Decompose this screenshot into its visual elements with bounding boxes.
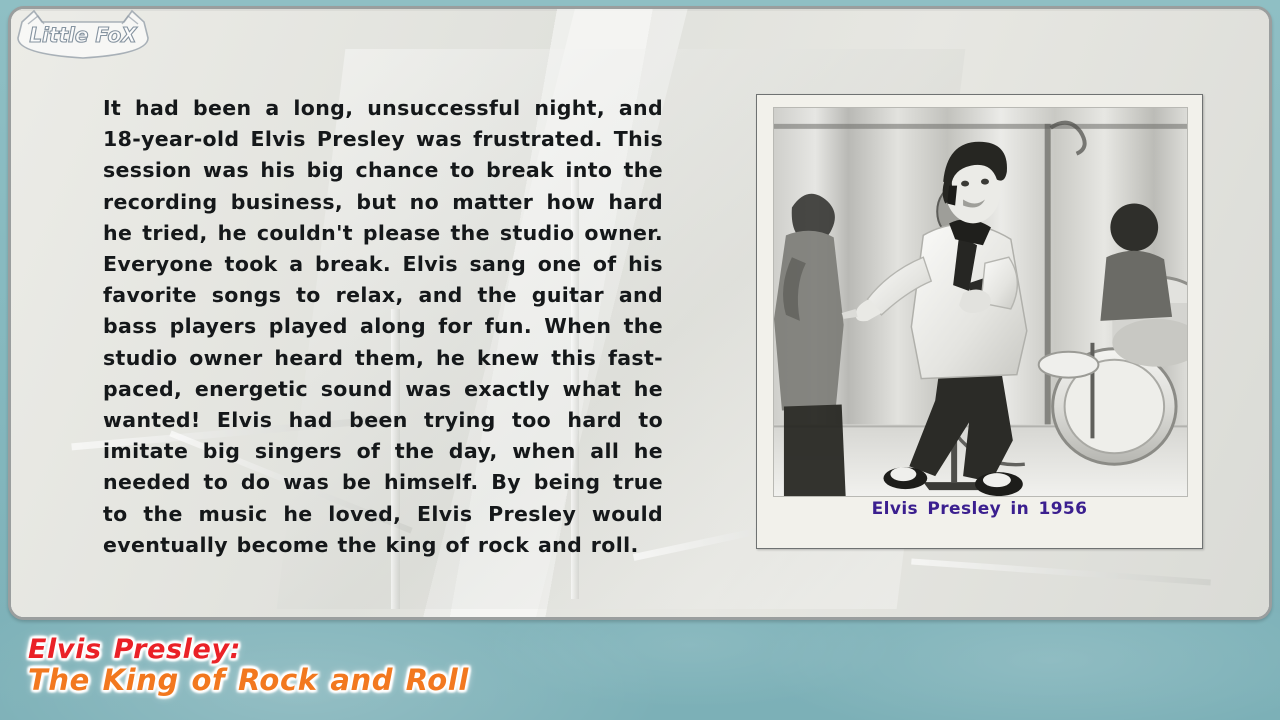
article-text-block: It had been a long, unsuccessful night, …: [103, 93, 663, 561]
logo-wordmark: Little FoX: [29, 23, 138, 47]
content-panel: It had been a long, unsuccessful night, …: [8, 6, 1272, 620]
title-line-1: Elvis Presley:: [28, 636, 469, 665]
fox-head-icon: Little FoX: [8, 8, 158, 60]
photo-caption: Elvis Presley in 1956: [757, 499, 1202, 519]
elvis-performance-photo: [774, 108, 1187, 496]
photo-frame: [773, 107, 1188, 497]
slide-stage: It had been a long, unsuccessful night, …: [0, 0, 1280, 720]
slide-title: Elvis Presley: The King of Rock and Roll: [28, 636, 469, 695]
little-fox-logo[interactable]: Little FoX: [8, 8, 158, 60]
title-line-2: The King of Rock and Roll: [28, 665, 469, 696]
article-paragraph: It had been a long, unsuccessful night, …: [103, 93, 663, 561]
photo-card: Elvis Presley in 1956: [756, 94, 1203, 549]
